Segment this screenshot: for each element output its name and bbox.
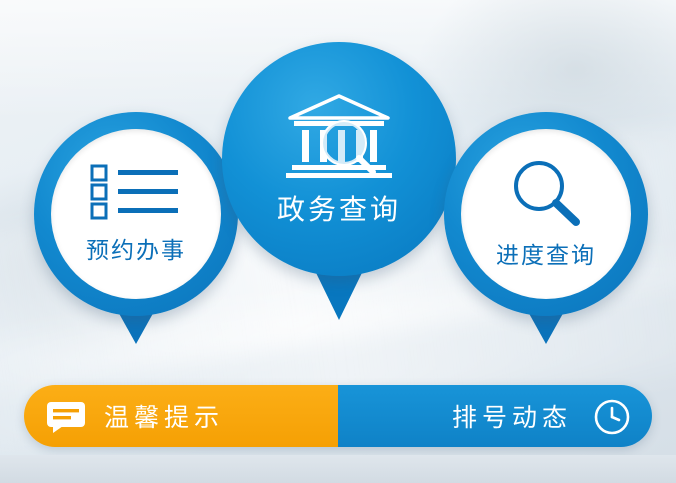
magnifier-icon [506, 158, 586, 228]
pin-appointment-label: 预约办事 [86, 231, 186, 265]
pin-progress-query-inner: 进度查询 [461, 129, 631, 299]
pin-appointment[interactable]: 预约办事 [34, 112, 238, 337]
pin-affairs-query[interactable]: 政务查询 [222, 42, 456, 322]
bottom-strip [0, 455, 676, 483]
pin-progress-query-shape: 进度查询 [444, 112, 648, 337]
tips-label: 温馨提示 [104, 398, 224, 434]
pin-appointment-shape: 预约办事 [34, 112, 238, 337]
pin-affairs-query-label: 政务查询 [277, 188, 401, 228]
bottom-action-bar: 温馨提示 排号动态 [24, 385, 652, 447]
queue-status-button[interactable]: 排号动态 [338, 385, 652, 447]
pin-group: 预约办事 [0, 0, 676, 380]
pin-appointment-inner: 预约办事 [51, 129, 221, 299]
pin-affairs-query-shape: 政务查询 [222, 42, 456, 322]
queue-status-label: 排号动态 [452, 398, 572, 434]
tips-button[interactable]: 温馨提示 [24, 385, 338, 447]
pin-progress-query-label: 进度查询 [496, 236, 596, 270]
speech-bubble-icon [46, 401, 86, 433]
clock-icon [594, 399, 630, 435]
app-screen: 预约办事 [0, 0, 676, 483]
checklist-icon [90, 163, 182, 221]
pin-progress-query[interactable]: 进度查询 [444, 112, 648, 337]
government-building-search-icon [280, 90, 398, 182]
pin-affairs-query-inner: 政务查询 [222, 42, 456, 276]
